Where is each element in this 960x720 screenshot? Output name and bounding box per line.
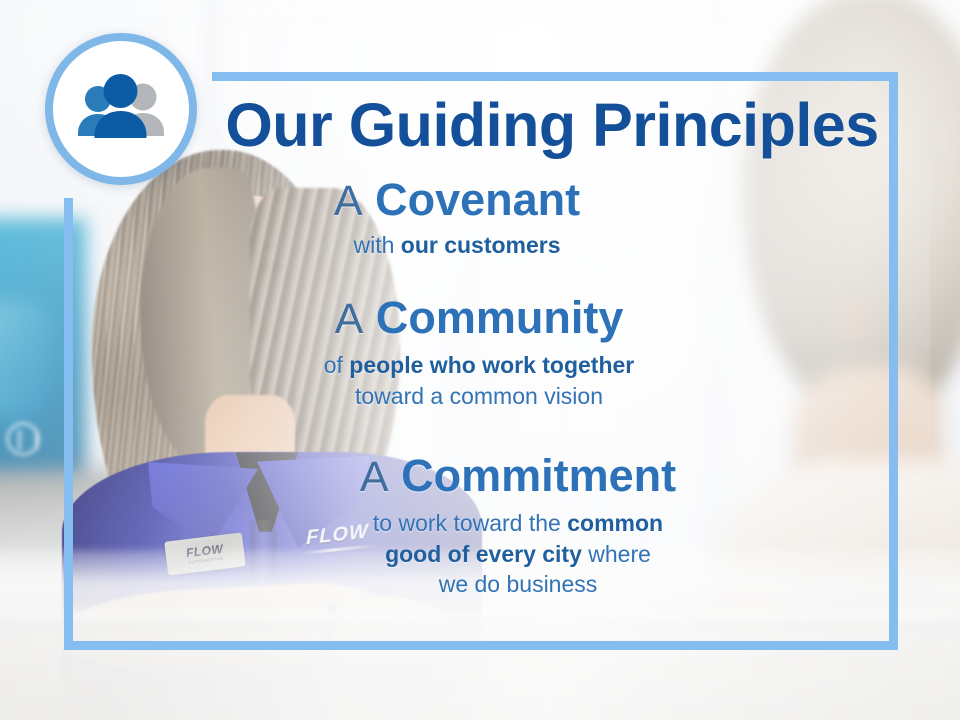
- subtext-segment-emphasis: people who work together: [349, 352, 634, 378]
- text-content: Our Guiding Principles A Covenant with o…: [72, 72, 898, 650]
- principle-article: A: [335, 295, 364, 343]
- principle-heading: A Covenant: [72, 176, 842, 224]
- subtext-line: we do business: [138, 569, 898, 600]
- guiding-principles-graphic: FLOW AUTOMOTIVE FLOW: [0, 0, 960, 720]
- subtext-segment-emphasis: common: [567, 510, 663, 536]
- subtext-segment-emphasis: good of every city: [385, 541, 582, 567]
- principle-keyword: Community: [376, 292, 624, 343]
- subtext-line: good of every city where: [138, 539, 898, 570]
- subtext-line: toward a common vision: [72, 381, 886, 412]
- subtext-segment: where: [582, 541, 651, 567]
- principle-commitment: A Commitment to work toward the common g…: [72, 452, 898, 600]
- subtext-segment: to work toward the: [373, 510, 567, 536]
- principle-subtext: to work toward the common good of every …: [138, 508, 898, 600]
- principle-keyword: Commitment: [401, 450, 676, 501]
- subtext-line: to work toward the common: [138, 508, 898, 539]
- subtext-segment: toward a common vision: [355, 383, 603, 409]
- principle-subtext: of people who work together toward a com…: [72, 350, 886, 411]
- principle-heading: A Community: [72, 294, 886, 342]
- principle-heading: A Commitment: [138, 452, 898, 500]
- page-title: Our Guiding Principles: [222, 94, 882, 156]
- subtext-segment: of: [324, 352, 350, 378]
- principle-covenant: A Covenant with our customers: [72, 176, 898, 261]
- principle-keyword: Covenant: [375, 174, 580, 225]
- principle-subtext: with our customers: [72, 230, 842, 261]
- subtext-segment: we do business: [439, 571, 598, 597]
- principle-article: A: [334, 177, 363, 225]
- subtext-segment: with: [353, 232, 400, 258]
- principle-community: A Community of people who work together …: [72, 294, 898, 411]
- subtext-line: of people who work together: [72, 350, 886, 381]
- subtext-segment-emphasis: our customers: [401, 232, 561, 258]
- principle-article: A: [360, 453, 389, 501]
